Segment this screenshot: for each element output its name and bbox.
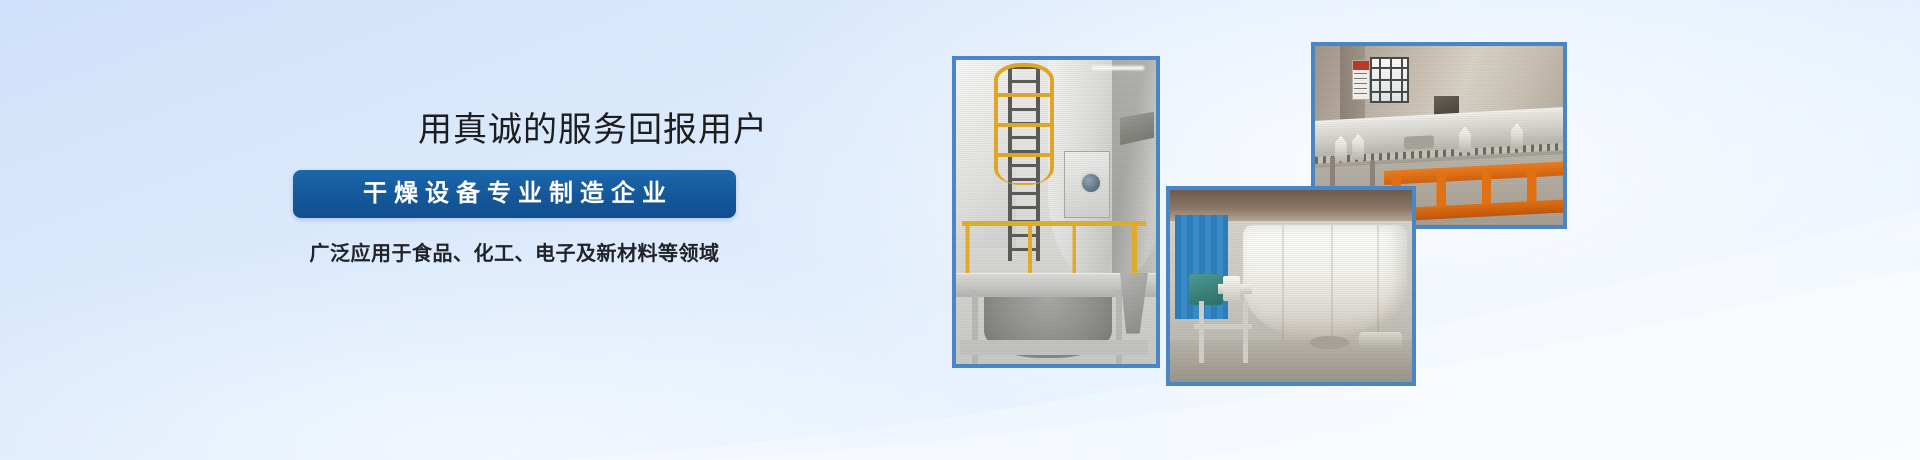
photo3-wall-sign-text — [1354, 73, 1367, 96]
photo3-window-grid — [1370, 57, 1410, 104]
photo3-inspection-hatch — [1404, 135, 1434, 149]
photo1-ladder-safety-cage — [994, 63, 1054, 185]
subline: 广泛应用于食品、化工、电子及新材料等领域 — [293, 240, 736, 268]
photo-ribbon-mixer-vessel — [1166, 186, 1416, 386]
headline: 用真诚的服务回报用户 — [293, 108, 893, 152]
photo2-support-crossbar — [1194, 324, 1252, 329]
photo3-wall-sign-header — [1353, 61, 1368, 69]
photo1-ceiling-light — [1092, 66, 1144, 70]
photo1-handrail-top — [962, 221, 1146, 226]
photo3-wall-sign — [1352, 60, 1369, 99]
slogan-badge: 干燥设备专业制造企业 — [293, 170, 736, 218]
hero-banner: 用真诚的服务回报用户 干燥设备专业制造企业 广泛应用于食品、化工、电子及新材料等… — [0, 0, 1920, 460]
photo-spray-dryer-tower — [952, 56, 1160, 368]
photo2-support-left — [1199, 301, 1204, 362]
photo2-vessel-seams — [1243, 225, 1408, 340]
photo1-handrail-posts — [962, 221, 1146, 276]
photo1-base — [960, 340, 1148, 355]
photo2-support-right — [1243, 301, 1248, 362]
photo2-coupling — [1223, 276, 1240, 301]
photo2-discharge-pipe — [1359, 332, 1403, 349]
slogan-badge-text: 干燥设备专业制造企业 — [356, 182, 673, 206]
banner-copy: 用真诚的服务回报用户 干燥设备专业制造企业 广泛应用于食品、化工、电子及新材料等… — [293, 108, 893, 268]
